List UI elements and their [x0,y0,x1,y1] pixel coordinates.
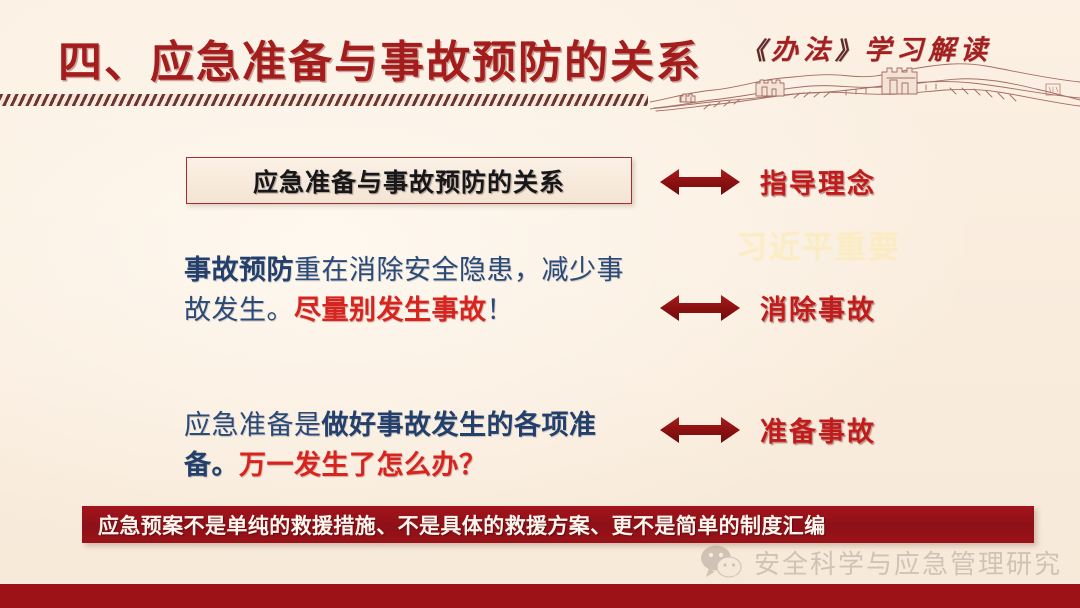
relation-label-1: 指导理念 [760,162,876,201]
paragraph-prevention: 事故预防重在消除安全隐患，减少事故发生。尽量别发生事故！ [184,251,636,331]
paragraph-preparedness: 应急准备是做好事故发生的各项准备。万一发生了怎么办？ [184,406,636,486]
paragraph-1-tail: ！ [487,295,515,326]
conclusion-banner-text: 应急预案不是单纯的救援措施、不是具体的救援方案、更不是简单的制度汇编 [98,510,826,540]
great-wall-illustration-icon [650,52,1080,114]
relation-row-eliminate-accident: 消除事故 [660,288,876,327]
wechat-icon [700,545,744,581]
statement-box: 应急准备与事故预防的关系 [186,157,632,204]
bottom-accent-bar [0,584,1080,608]
conclusion-banner: 应急预案不是单纯的救援措施、不是具体的救援方案、更不是简单的制度汇编 [82,506,1034,543]
paragraph-1-bold-lead: 事故预防 [184,255,294,286]
double-arrow-icon [660,167,740,197]
double-arrow-icon [660,293,740,323]
relation-row-prepare-accident: 准备事故 [660,410,876,449]
relation-label-2: 消除事故 [760,288,876,327]
paragraph-1-highlight: 尽量别发生事故 [294,295,487,326]
footer-watermark-text: 安全科学与应急管理研究 [754,544,1062,581]
double-arrow-icon [660,415,740,445]
relation-label-3: 准备事故 [760,410,876,449]
header-hatch-divider [0,94,648,106]
relation-row-guiding-idea: 指导理念 [660,162,876,201]
footer-watermark: 安全科学与应急管理研究 [700,544,1062,581]
slide-header: 四、应急准备与事故预防的关系 《办法》学习解读 [0,0,1080,112]
paragraph-2-highlight: 万一发生了怎么办？ [239,450,487,481]
statement-box-label: 应急准备与事故预防的关系 [253,163,565,199]
page-title: 四、应急准备与事故预防的关系 [58,26,702,90]
paragraph-2-lead: 应急准备是 [184,410,322,441]
faint-yellow-watermark: 习近平重要 [736,222,901,267]
slide-canvas: 四、应急准备与事故预防的关系 《办法》学习解读 [0,0,1080,608]
